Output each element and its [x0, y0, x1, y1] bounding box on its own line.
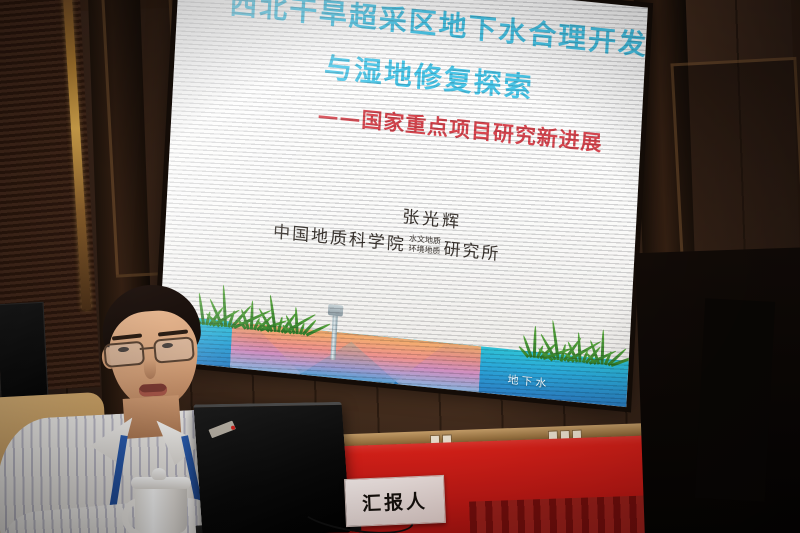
affiliation-stack-bottom: 环境地质 — [408, 243, 440, 255]
glasses-bridge — [140, 347, 154, 350]
lens-left — [103, 341, 145, 368]
mouth — [139, 383, 168, 396]
name-card-label: 汇报人 — [361, 486, 428, 516]
tea-mug[interactable] — [135, 484, 187, 533]
slide-title-line-2: 与湿地修复探索 — [323, 46, 534, 107]
well-head-icon — [328, 304, 344, 316]
wall-framed-panel — [670, 57, 800, 279]
affiliation-suffix: 研究所 — [443, 234, 501, 265]
slide-affiliation: 中国地质科学院 水文地质 环境地质 研究所 — [273, 217, 501, 265]
slide-title-line-1: 西北干旱超采区地下水合理开发 — [229, 0, 648, 64]
thinkpad-logo-dot-icon — [231, 426, 235, 430]
affiliation-stack: 水文地质 环境地质 — [408, 234, 441, 256]
dark-equipment-right — [695, 298, 775, 501]
plant-blade — [294, 307, 298, 334]
slide-author-name: 张光辉 — [402, 202, 463, 233]
lens-right — [153, 336, 195, 363]
plant-blade — [577, 332, 582, 363]
mug-lid-knob[interactable] — [152, 468, 166, 480]
slide-subtitle: ——国家重点项目研究新进展 — [317, 99, 604, 157]
name-card: 汇报人 — [344, 475, 446, 527]
presentation-photo-scene: 西北干旱超采区地下水合理开发 与湿地修复探索 ——国家重点项目研究新进展 张光辉… — [0, 0, 800, 533]
affiliation-prefix: 中国地质科学院 — [273, 217, 407, 255]
